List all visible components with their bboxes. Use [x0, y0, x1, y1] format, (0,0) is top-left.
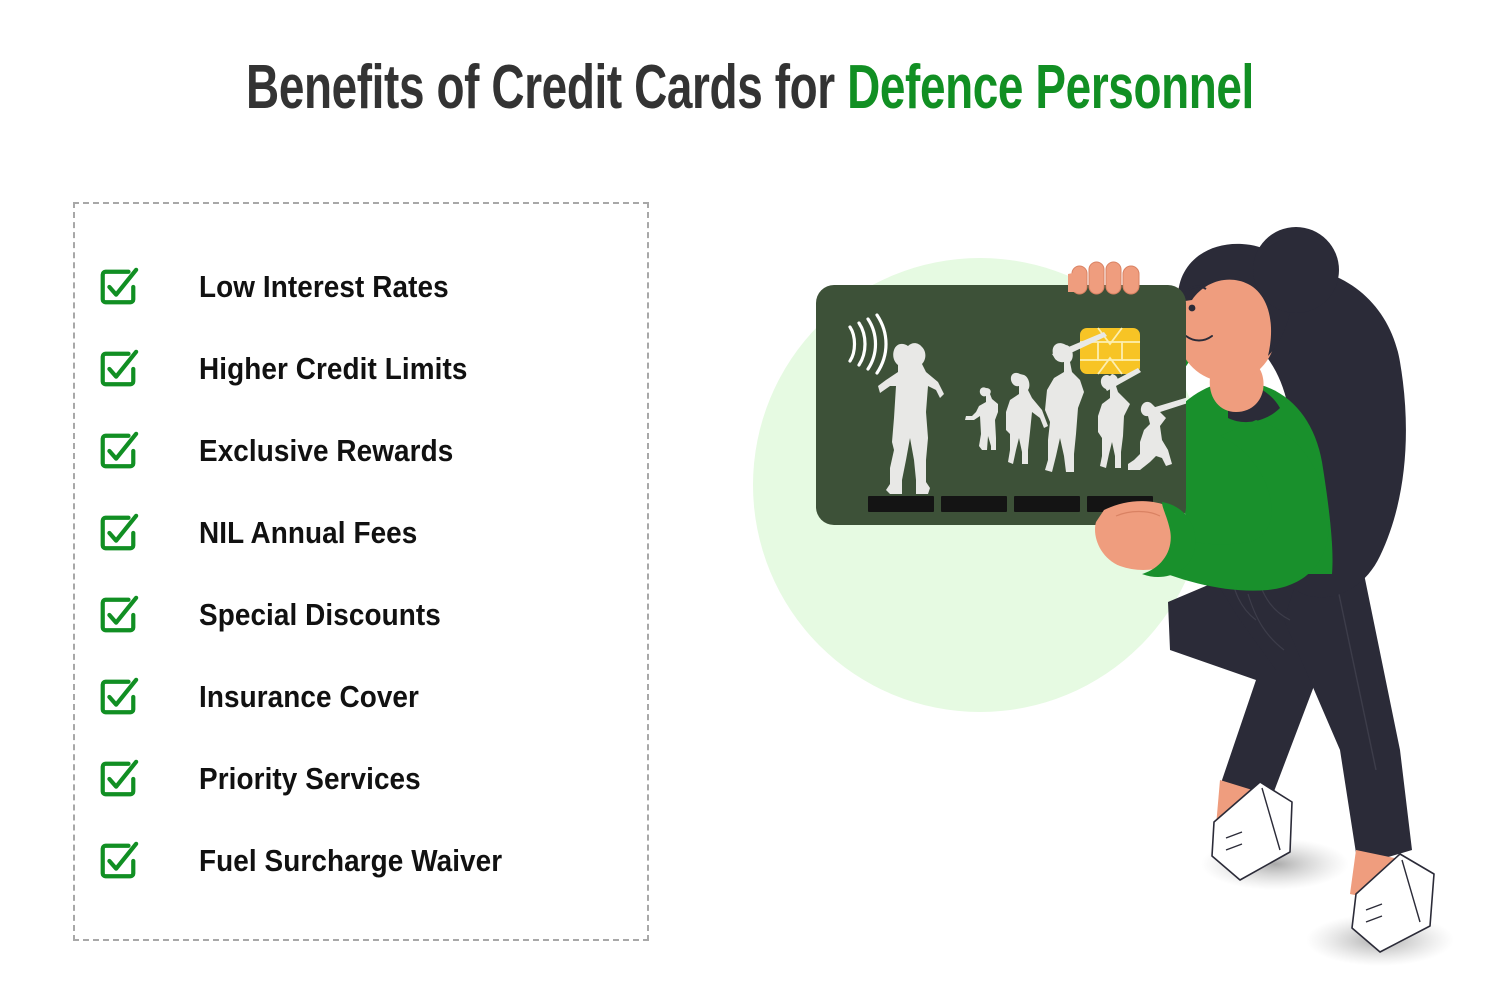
page-title-prefix: Benefits of Credit Cards for: [246, 53, 847, 122]
checkbox-checked-icon[interactable]: [97, 758, 139, 800]
benefit-label: NIL Annual Fees: [199, 515, 417, 551]
benefits-panel: Low Interest RatesHigher Credit LimitsEx…: [73, 202, 649, 941]
illustration: [700, 150, 1490, 970]
benefit-label: Priority Services: [199, 761, 421, 797]
benefit-item[interactable]: Exclusive Rewards: [75, 410, 647, 492]
infographic-canvas: Benefits of Credit Cards for Defence Per…: [0, 0, 1500, 1002]
benefit-label: Fuel Surcharge Waiver: [199, 843, 502, 879]
benefit-label: Insurance Cover: [199, 679, 419, 715]
benefit-item[interactable]: Special Discounts: [75, 574, 647, 656]
benefit-item[interactable]: Priority Services: [75, 738, 647, 820]
checkbox-checked-icon[interactable]: [97, 676, 139, 718]
page-title-highlight: Defence Personnel: [847, 53, 1254, 122]
benefit-item[interactable]: NIL Annual Fees: [75, 492, 647, 574]
benefit-item[interactable]: Higher Credit Limits: [75, 328, 647, 410]
emv-chip-icon: [1080, 328, 1140, 374]
benefit-label: Low Interest Rates: [199, 269, 449, 305]
benefit-label: Special Discounts: [199, 597, 441, 633]
checkbox-checked-icon[interactable]: [97, 594, 139, 636]
benefit-item[interactable]: Fuel Surcharge Waiver: [75, 820, 647, 902]
checkbox-checked-icon[interactable]: [97, 348, 139, 390]
benefit-item[interactable]: Insurance Cover: [75, 656, 647, 738]
benefit-label: Higher Credit Limits: [199, 351, 467, 387]
page-title: Benefits of Credit Cards for Defence Per…: [195, 52, 1305, 124]
credit-card: [816, 285, 1194, 525]
checkbox-checked-icon[interactable]: [97, 266, 139, 308]
checkbox-checked-icon[interactable]: [97, 430, 139, 472]
benefits-list: Low Interest RatesHigher Credit LimitsEx…: [75, 204, 647, 939]
hand-top: [1068, 262, 1139, 294]
benefit-item[interactable]: Low Interest Rates: [75, 246, 647, 328]
checkbox-checked-icon[interactable]: [97, 512, 139, 554]
hair-bun: [1253, 227, 1339, 313]
checkbox-checked-icon[interactable]: [97, 840, 139, 882]
benefit-label: Exclusive Rewards: [199, 433, 453, 469]
